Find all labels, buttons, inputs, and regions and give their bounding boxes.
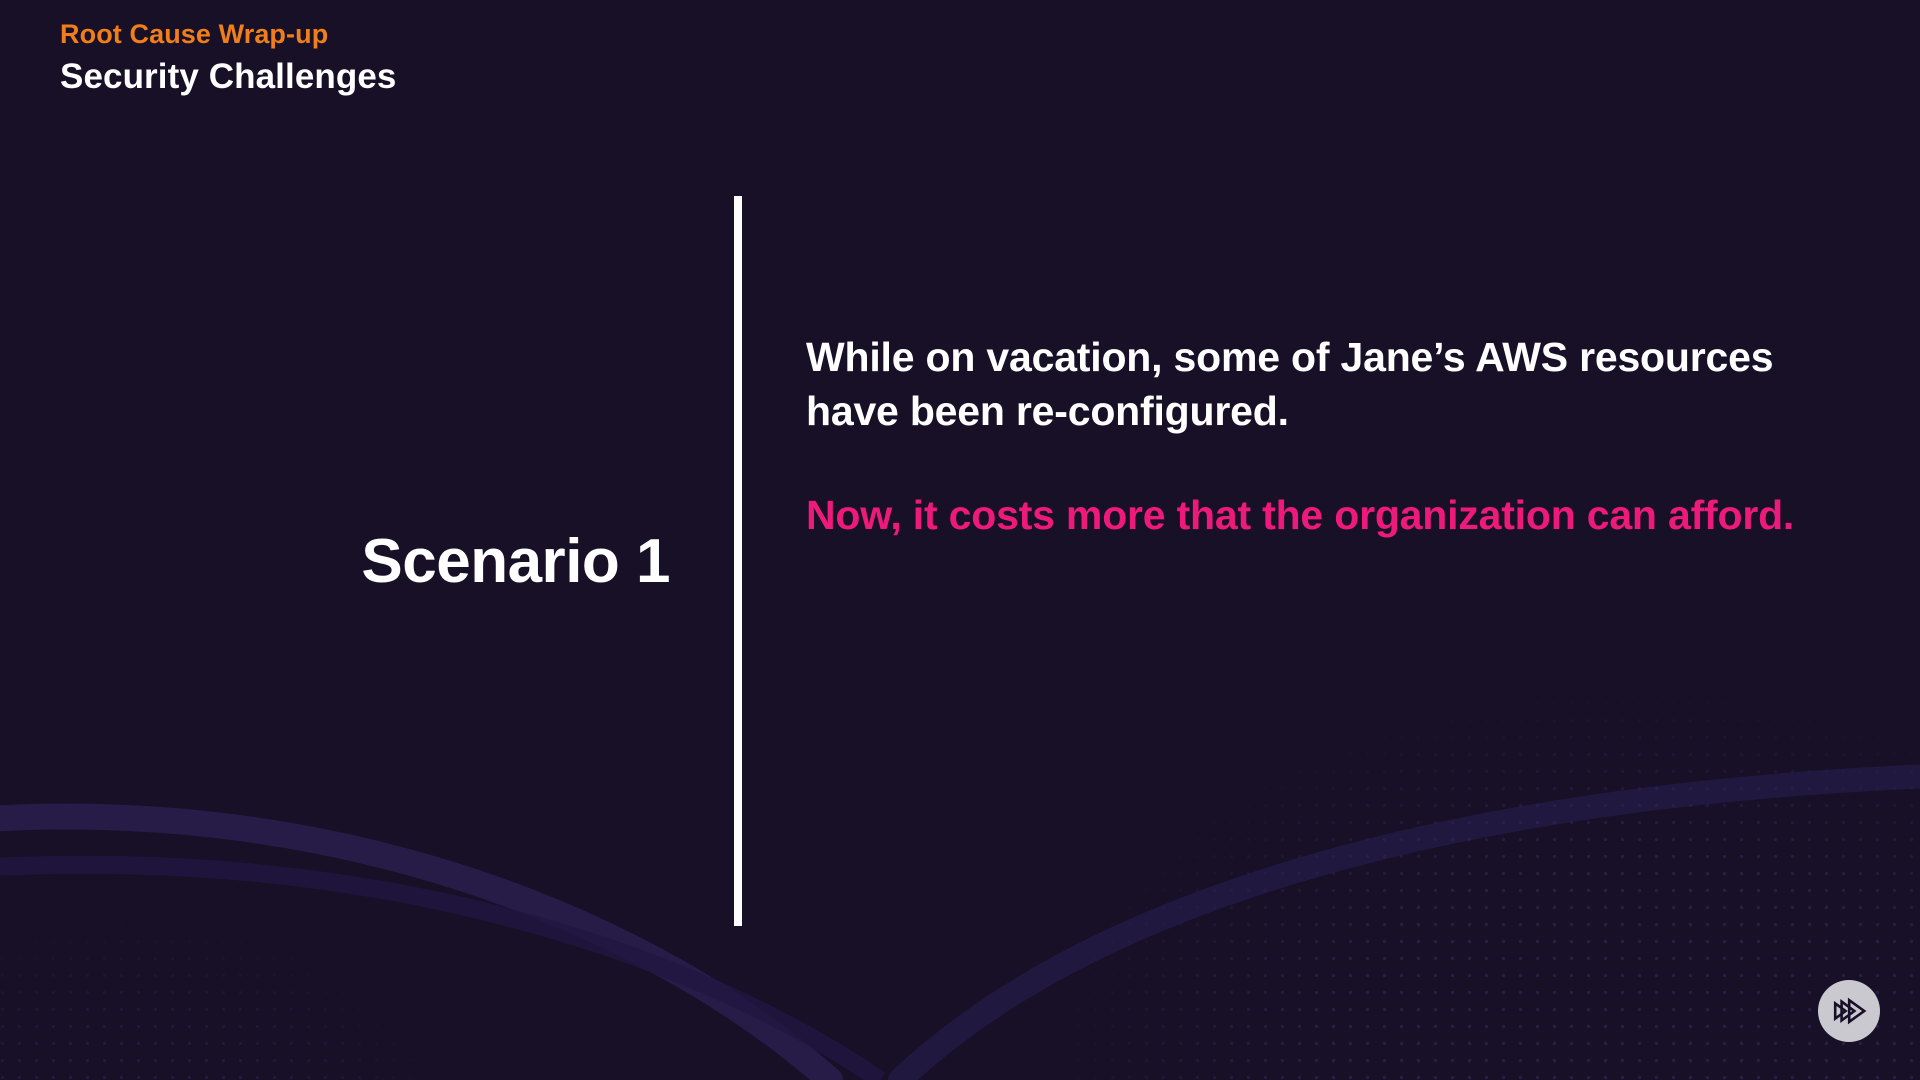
eyebrow-text: Root Cause Wrap-up bbox=[60, 18, 396, 50]
slide-canvas: Root Cause Wrap-up Security Challenges S… bbox=[0, 0, 1920, 1080]
scenario-label: Scenario 1 bbox=[361, 526, 670, 597]
scenario-description-pane: While on vacation, some of Jane’s AWS re… bbox=[806, 330, 1806, 542]
page-title: Security Challenges bbox=[60, 56, 396, 98]
slide-header: Root Cause Wrap-up Security Challenges bbox=[60, 18, 396, 98]
scenario-pane: Scenario 1 bbox=[0, 196, 700, 926]
play-logo-icon bbox=[1831, 995, 1867, 1027]
brand-logo-badge bbox=[1818, 980, 1880, 1042]
scenario-description-highlight: Now, it costs more that the organization… bbox=[806, 488, 1806, 542]
vertical-divider bbox=[734, 196, 742, 926]
scenario-description-primary: While on vacation, some of Jane’s AWS re… bbox=[806, 330, 1806, 438]
